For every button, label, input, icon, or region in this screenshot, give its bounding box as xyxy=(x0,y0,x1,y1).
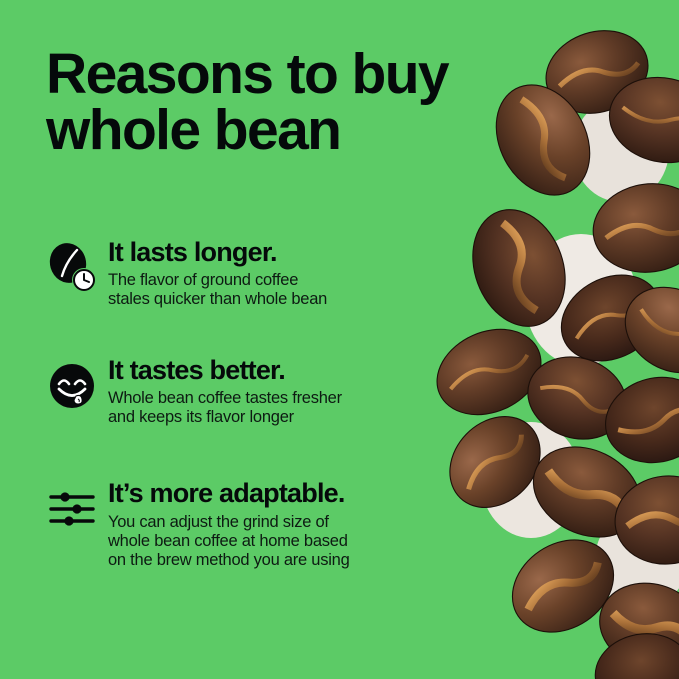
page-title: Reasons to buy whole bean xyxy=(46,46,516,159)
list-item: It’s more adaptable. You can adjust the … xyxy=(46,479,431,570)
infographic-root: Reasons to buy whole bean It lasts longe… xyxy=(0,0,679,679)
list-item-body: It tastes better. Whole bean coffee tast… xyxy=(108,356,431,428)
list-item: It lasts longer. The flavor of ground co… xyxy=(46,238,431,310)
list-item-description: Whole bean coffee tastes fresher and kee… xyxy=(108,389,431,427)
coffee-bean-clock-icon xyxy=(46,242,98,294)
list-item-title: It lasts longer. xyxy=(108,238,431,266)
reasons-list: It lasts longer. The flavor of ground co… xyxy=(46,238,431,570)
list-item: It tastes better. Whole bean coffee tast… xyxy=(46,356,431,428)
list-item-body: It lasts longer. The flavor of ground co… xyxy=(108,238,431,310)
list-item-description: You can adjust the grind size of whole b… xyxy=(108,513,431,570)
sliders-adjust-icon xyxy=(46,483,98,535)
list-item-body: It’s more adaptable. You can adjust the … xyxy=(108,479,431,570)
smiling-face-tongue-icon xyxy=(46,360,98,412)
list-item-title: It tastes better. xyxy=(108,356,431,384)
list-item-title: It’s more adaptable. xyxy=(108,479,431,507)
list-item-description: The flavor of ground coffee stales quick… xyxy=(108,271,431,309)
